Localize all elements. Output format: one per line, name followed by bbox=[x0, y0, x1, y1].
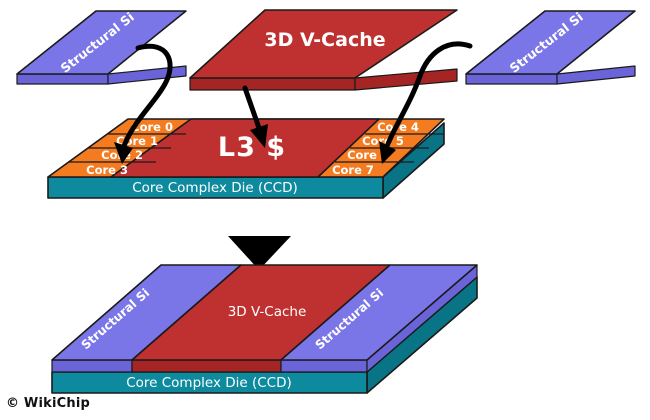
assembled-si-right-front-face bbox=[281, 360, 367, 372]
v-cache-assembly-diagram: Structural Si Structural Si 3D V-Cache C… bbox=[0, 0, 650, 420]
si-right-side-face bbox=[466, 74, 557, 84]
assembled-vcache-front-face bbox=[132, 360, 281, 372]
vcache-front-face bbox=[190, 78, 355, 90]
assembled-ccd-label: Core Complex Die (CCD) bbox=[126, 375, 292, 391]
diagram-canvas: Structural Si Structural Si 3D V-Cache C… bbox=[0, 0, 650, 420]
core-7-label: Core 7 bbox=[332, 163, 374, 177]
ccd-label: Core Complex Die (CCD) bbox=[132, 180, 298, 196]
vcache-label: 3D V-Cache bbox=[264, 29, 385, 51]
watermark: © WikiChip bbox=[6, 396, 90, 411]
structural-si-right-slab: Structural Si bbox=[466, 9, 635, 84]
exploded-view: Structural Si Structural Si 3D V-Cache C… bbox=[17, 9, 635, 198]
assembled-si-left-front-face bbox=[52, 360, 132, 372]
si-left-front-face bbox=[108, 66, 186, 84]
si-left-side-face bbox=[17, 74, 108, 84]
si-right-front-face bbox=[557, 66, 635, 84]
vcache-right-face bbox=[355, 69, 457, 90]
core-3-label: Core 3 bbox=[86, 163, 128, 177]
assembled-view: Core Complex Die (CCD) Structural Si 3D … bbox=[52, 265, 477, 393]
l3-label: L3 $ bbox=[218, 132, 286, 163]
assembled-vcache-label: 3D V-Cache bbox=[228, 304, 307, 320]
